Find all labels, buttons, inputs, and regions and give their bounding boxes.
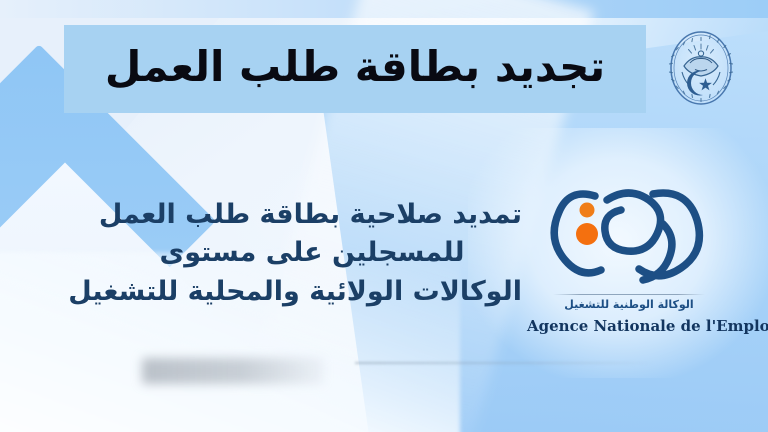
anem-name-arabic: الوكالة الوطنية للتشغيل <box>527 298 731 311</box>
body-line-2: للمسجلين على مستوى <box>102 234 522 272</box>
anem-logo-mark-icon <box>535 172 723 290</box>
poster-canvas: تجديد بطاقة طلب العمل <box>0 0 768 432</box>
body-line-1: تمديد صلاحية بطاقة طلب العمل <box>102 196 522 234</box>
blurred-watermark-line <box>355 362 655 364</box>
anem-dot-small <box>580 203 595 218</box>
anem-name-french: Agence Nationale de l'Emploi <box>527 317 731 335</box>
algeria-national-emblem-icon <box>662 22 740 114</box>
anem-divider <box>553 294 705 295</box>
anem-dot-large <box>576 223 598 245</box>
page-title: تجديد بطاقة طلب العمل <box>64 25 646 113</box>
body-text: تمديد صلاحية بطاقة طلب العمل للمسجلين عل… <box>102 196 522 311</box>
blurred-watermark <box>142 358 324 384</box>
anem-logo: الوكالة الوطنية للتشغيل Agence Nationale… <box>527 172 731 350</box>
body-line-3: الوكالات الولائية والمحلية للتشغيل <box>102 273 522 311</box>
